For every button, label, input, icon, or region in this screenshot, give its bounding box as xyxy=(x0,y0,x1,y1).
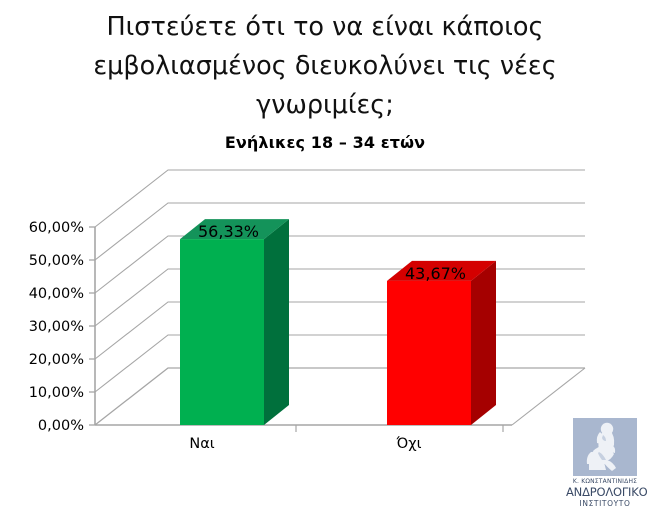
y-axis-tick-label: 40,00% xyxy=(29,286,84,302)
bar-Όχι xyxy=(387,261,496,425)
bar-chart-3d: 60,00%50,00%40,00%30,00%20,00%10,00%0,00… xyxy=(0,160,650,460)
institute-logo: Κ. ΚΩΝΣΤΑΝΤΙΝΙΔΗΣ ΑΝΔΡΟΛΟΓΙΚΟ ΙΝΣΤΙΤΟΥΤΟ xyxy=(566,418,644,514)
bar-Ναι xyxy=(180,219,289,425)
chart-title-block: Πιστεύετε ότι το να είναι κάποιος εμβολι… xyxy=(55,8,595,152)
logo-line-3: ΙΝΣΤΙΤΟΥΤΟ xyxy=(566,499,644,509)
category-label-Ναι: Ναι xyxy=(189,436,214,452)
y-axis-tick-label: 20,00% xyxy=(29,352,84,368)
y-axis-tick-label: 30,00% xyxy=(29,319,84,335)
y-axis-tick-label: 60,00% xyxy=(29,220,84,236)
chart-title-line-3: γνωριμίες; xyxy=(55,86,595,125)
grid-lines xyxy=(95,170,585,425)
chart-title-line-1: Πιστεύετε ότι το να είναι κάποιος xyxy=(55,8,595,47)
y-axis-tick-label: 50,00% xyxy=(29,253,84,269)
y-axis-tick-label: 0,00% xyxy=(38,418,84,434)
bars-group xyxy=(180,219,496,425)
category-label-Όχι: Όχι xyxy=(395,436,421,452)
logo-text-block: Κ. ΚΩΝΣΤΑΝΤΙΝΙΔΗΣ ΑΝΔΡΟΛΟΓΙΚΟ ΙΝΣΤΙΤΟΥΤΟ xyxy=(566,478,644,509)
bar-value-label: 43,67% xyxy=(405,264,466,283)
axes xyxy=(89,227,585,432)
thinker-statue-icon xyxy=(573,418,637,476)
category-labels: ΝαιΌχι xyxy=(189,436,421,452)
logo-line-2: ΑΝΔΡΟΛΟΓΙΚΟ xyxy=(566,486,644,499)
y-axis-tick-label: 10,00% xyxy=(29,385,84,401)
chart-title-line-2: εμβολιασμένος διευκολύνει τις νέες xyxy=(55,47,595,86)
chart-subtitle: Ενήλικες 18 – 34 ετών xyxy=(55,133,595,152)
y-axis-tick-labels: 60,00%50,00%40,00%30,00%20,00%10,00%0,00… xyxy=(29,220,84,434)
thinker-statue-figure xyxy=(573,418,637,476)
bar-value-label: 56,33% xyxy=(198,222,259,241)
chart-plot-area: 60,00%50,00%40,00%30,00%20,00%10,00%0,00… xyxy=(0,160,650,460)
